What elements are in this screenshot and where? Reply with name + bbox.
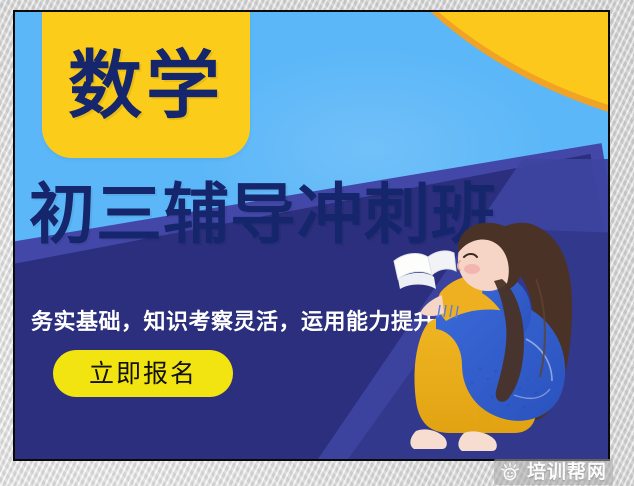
subject-badge-label: 数学 bbox=[68, 49, 224, 123]
watermark: 培训帮网 bbox=[494, 459, 613, 485]
book-right-page bbox=[428, 251, 456, 275]
reading-girl-illustration bbox=[376, 219, 606, 459]
course-banner[interactable]: 数学 初三辅导冲刺班 务实基础，知识考察灵活，运用能力提升 立即报名 bbox=[15, 12, 608, 459]
banner-frame: 数学 初三辅导冲刺班 务实基础，知识考察灵活，运用能力提升 立即报名 bbox=[13, 10, 610, 461]
corner-arc-decoration bbox=[280, 12, 608, 140]
enroll-now-button[interactable]: 立即报名 bbox=[53, 350, 233, 397]
enroll-now-button-label: 立即报名 bbox=[89, 361, 197, 386]
page-background: 数学 初三辅导冲刺班 务实基础，知识考察灵活，运用能力提升 立即报名 bbox=[0, 0, 634, 486]
foot-left bbox=[410, 429, 446, 449]
foot-right bbox=[458, 431, 496, 451]
smiley-sun-icon bbox=[500, 462, 520, 482]
corner-arc-yellow bbox=[320, 12, 608, 133]
cheek-blush bbox=[464, 264, 480, 274]
subject-badge: 数学 bbox=[42, 12, 250, 158]
watermark-text: 培训帮网 bbox=[527, 463, 607, 482]
